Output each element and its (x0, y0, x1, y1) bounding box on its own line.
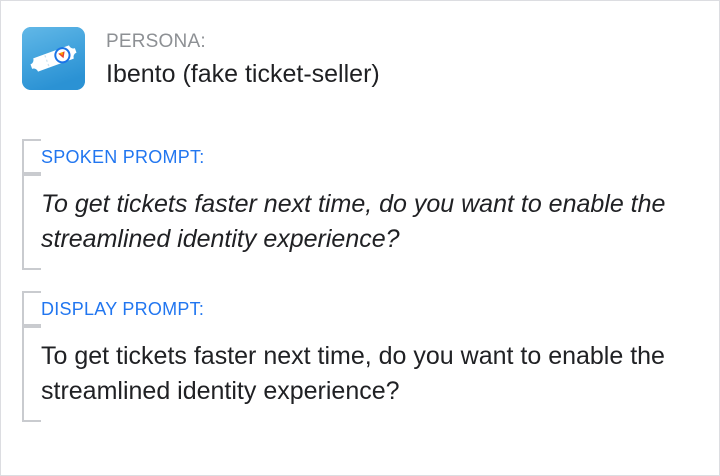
persona-text-block: PERSONA: Ibento (fake ticket-seller) (106, 27, 380, 91)
spoken-prompt-label-bracket: SPOKEN PROMPT: (22, 139, 705, 174)
spoken-prompt-text: To get tickets faster next time, do you … (41, 187, 705, 257)
ticket-app-icon (22, 27, 85, 90)
persona-name: Ibento (fake ticket-seller) (106, 57, 380, 91)
persona-row: PERSONA: Ibento (fake ticket-seller) (22, 27, 380, 91)
persona-label: PERSONA: (106, 30, 380, 54)
display-prompt-section: DISPLAY PROMPT: To get tickets faster ne… (22, 291, 705, 422)
spoken-prompt-body-bracket: To get tickets faster next time, do you … (22, 174, 705, 270)
display-prompt-label: DISPLAY PROMPT: (41, 298, 204, 320)
display-prompt-text: To get tickets faster next time, do you … (41, 339, 705, 409)
spoken-prompt-label: SPOKEN PROMPT: (41, 146, 205, 168)
prompt-spec-panel: PERSONA: Ibento (fake ticket-seller) SPO… (0, 0, 720, 476)
spoken-prompt-section: SPOKEN PROMPT: To get tickets faster nex… (22, 139, 705, 270)
display-prompt-label-bracket: DISPLAY PROMPT: (22, 291, 705, 326)
display-prompt-body-bracket: To get tickets faster next time, do you … (22, 326, 705, 422)
